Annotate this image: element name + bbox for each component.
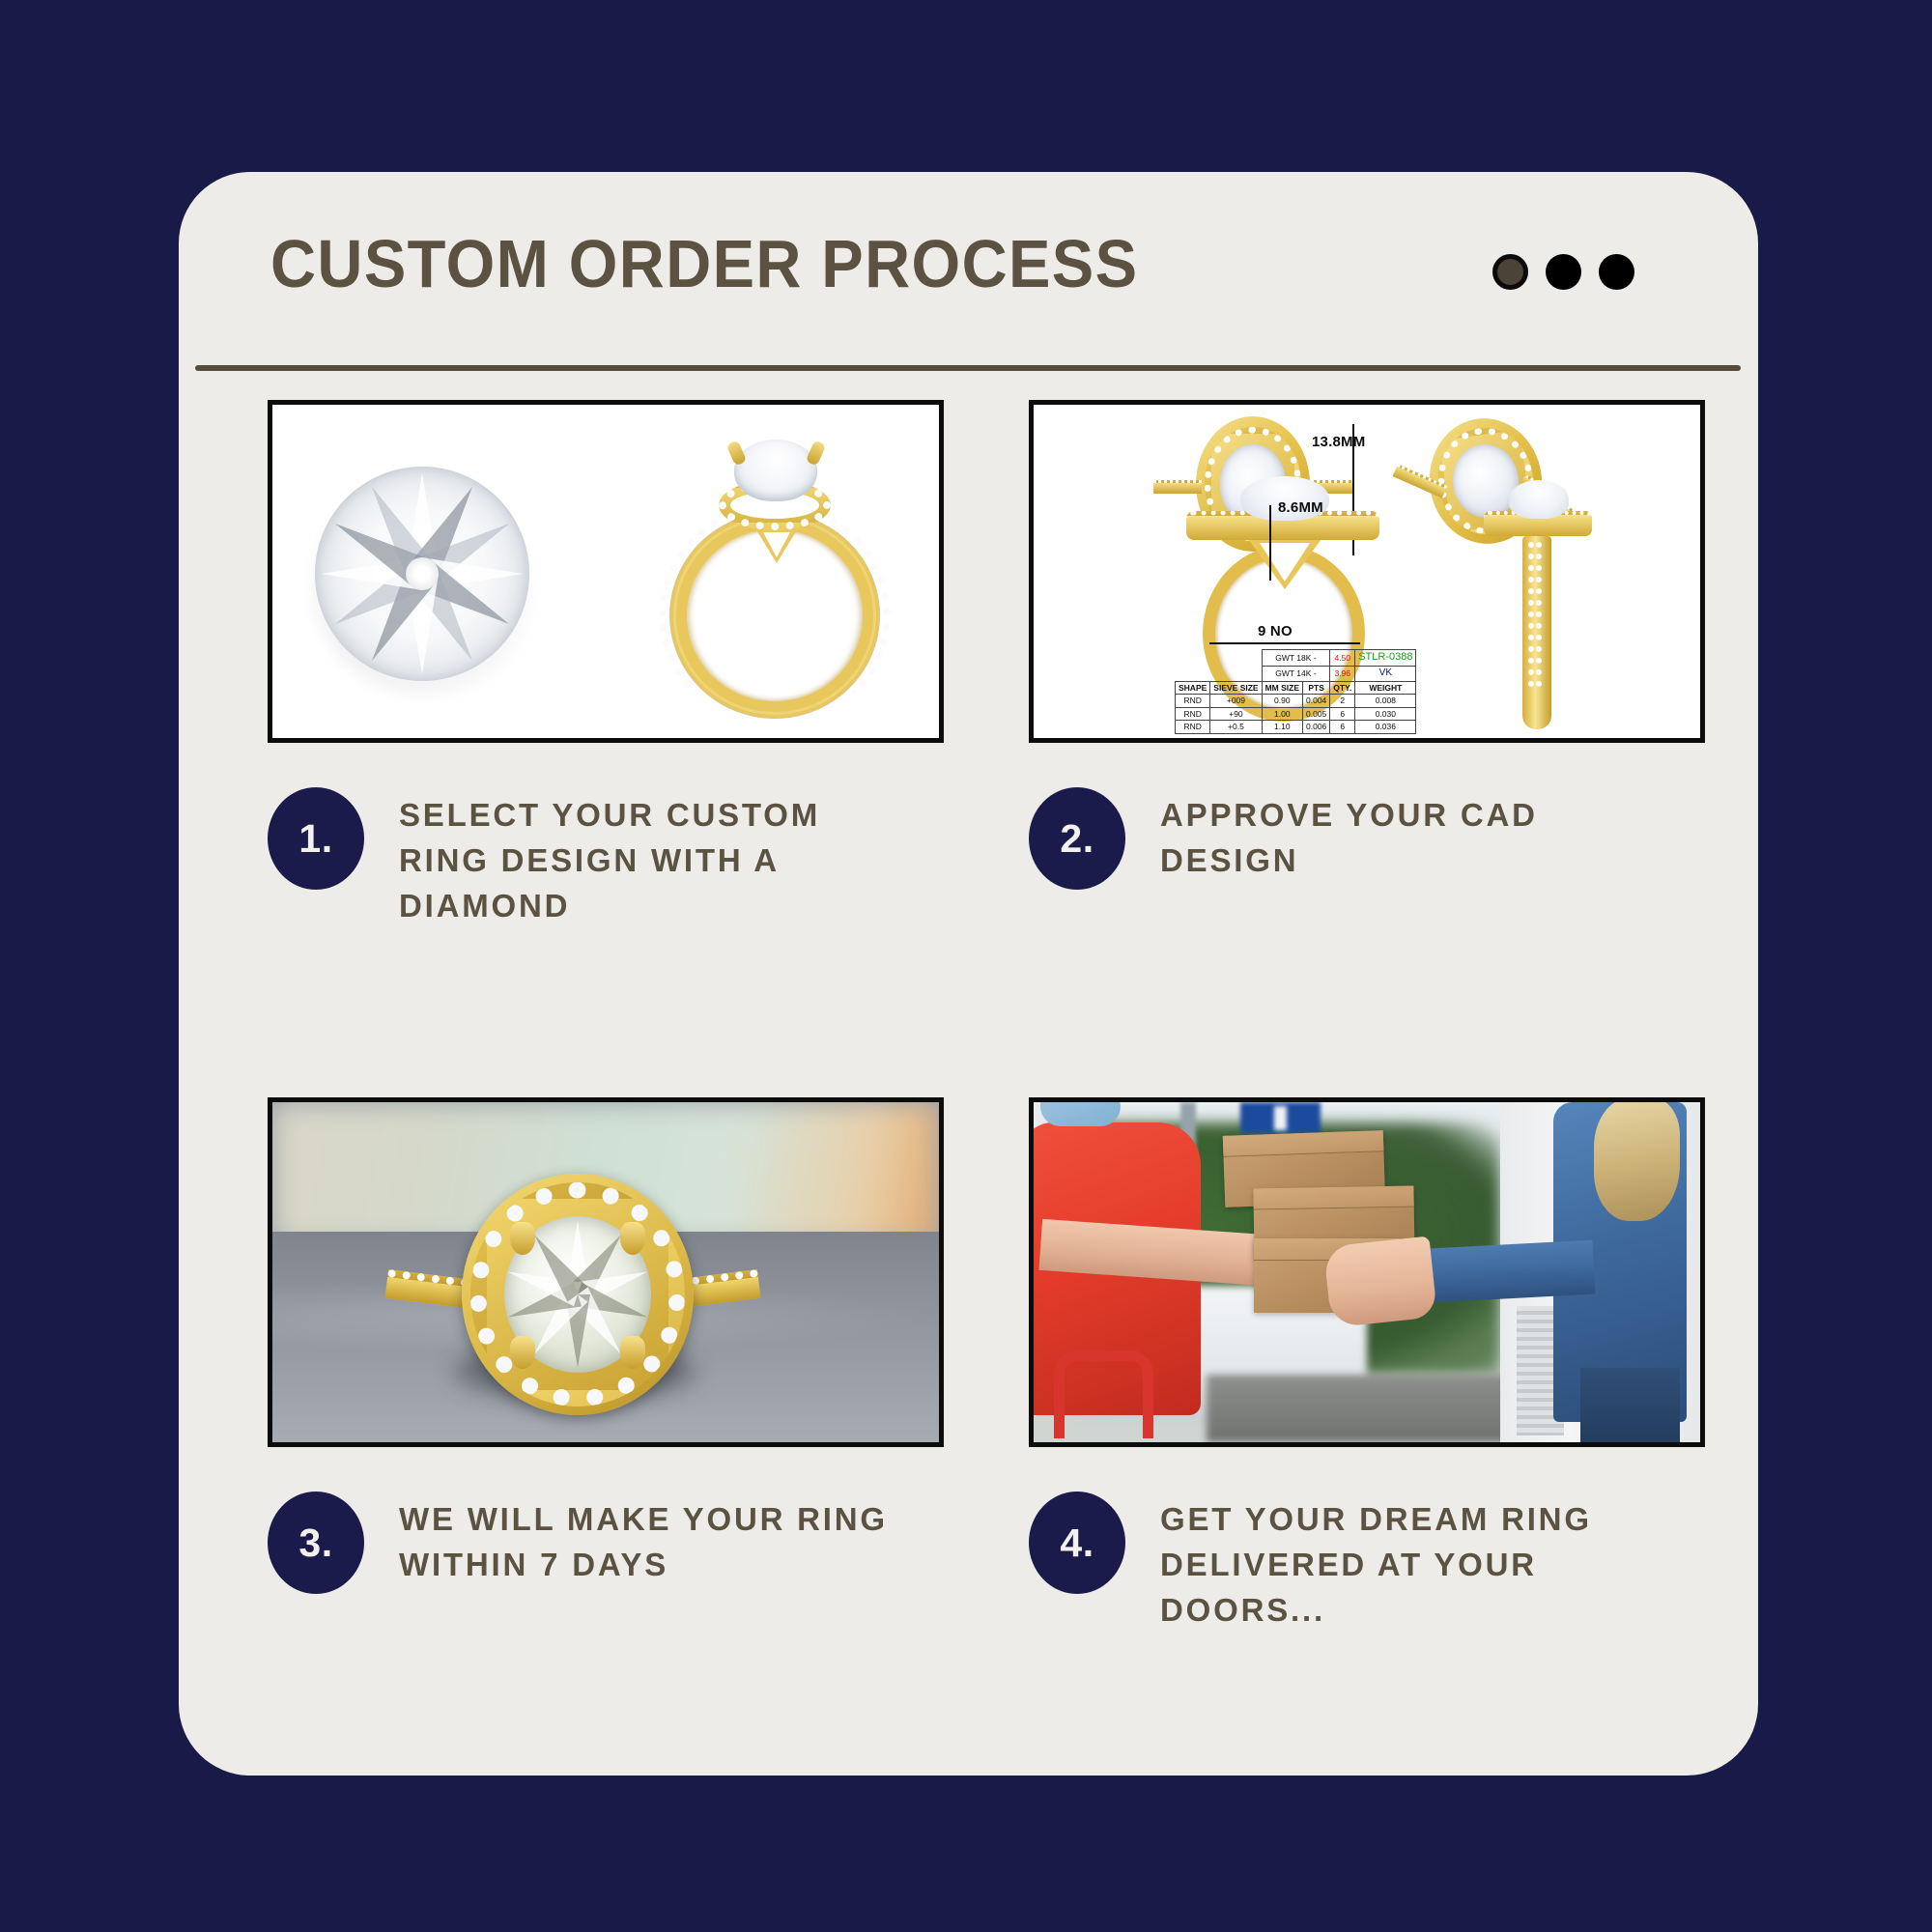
cad-side-center-stone: [1509, 480, 1569, 519]
gwt-18k-value: 4.50: [1330, 650, 1355, 667]
window-controls[interactable]: [1492, 254, 1634, 290]
face-mask-icon: [1040, 1102, 1121, 1126]
process-card: CUSTOM ORDER PROCESS: [179, 172, 1758, 1776]
card-header: CUSTOM ORDER PROCESS: [179, 172, 1758, 365]
prong-right: [806, 440, 827, 466]
gold-halo-ring-photo-icon: [462, 1174, 694, 1415]
loose-diamond-graphic: [301, 453, 543, 699]
cad-spec-table: GWT 18K - 4.50 STLR-0388 GWT 14K - 3.96 …: [1175, 649, 1416, 734]
dim-label-halo-width: 13.8MM: [1312, 434, 1365, 450]
gwt-14k-value: 3.96: [1330, 667, 1355, 682]
cad-front-v-gallery: [1248, 539, 1321, 589]
step-4-label: GET YOUR DREAM RING DELIVERED AT YOUR DO…: [1160, 1496, 1662, 1634]
table-row: GWT 14K - 3.96 VK: [1176, 667, 1416, 682]
table-row: GWT 18K - 4.50 STLR-0388: [1176, 650, 1416, 667]
step-2-label: APPROVE YOUR CAD DESIGN: [1160, 792, 1662, 883]
step-card-2: 13.8MM: [1029, 400, 1705, 890]
dim-label-ring-size: 9 NO: [1258, 623, 1293, 639]
blue-road-sign: [1240, 1102, 1321, 1133]
step-2-image: 13.8MM: [1029, 400, 1705, 743]
window-dot-black-1-icon[interactable]: [1546, 254, 1581, 290]
cad-side-pave: [1528, 542, 1542, 687]
col-mm-size: MM SIZE: [1262, 681, 1302, 695]
col-shape: SHAPE: [1176, 681, 1210, 695]
step-3-label: WE WILL MAKE YOUR RING WITHIN 7 DAYS: [399, 1496, 901, 1587]
finished-ring-photo: [272, 1102, 939, 1442]
step-1-number-badge: 1.: [268, 787, 364, 890]
table-header-row: SHAPE SIEVE SIZE MM SIZE PTS QTY. WEIGHT: [1176, 681, 1416, 695]
window-dot-black-2-icon[interactable]: [1599, 254, 1634, 290]
header-divider: [195, 365, 1741, 371]
dim-label-head-height: 8.6MM: [1278, 499, 1323, 516]
col-sieve-size: SIEVE SIZE: [1210, 681, 1262, 695]
gwt-14k-label: GWT 14K -: [1262, 667, 1330, 682]
step-card-4: 4. GET YOUR DREAM RING DELIVERED AT YOUR…: [1029, 1097, 1705, 1634]
window-dot-brown-icon[interactable]: [1492, 254, 1528, 290]
cad-sheet: 13.8MM: [1034, 405, 1700, 738]
gwt-18k-label: GWT 18K -: [1262, 650, 1330, 667]
infographic-canvas: CUSTOM ORDER PROCESS: [0, 0, 1932, 1932]
v-gallery: [755, 528, 798, 563]
prong-bottom-left: [510, 1336, 535, 1369]
table-row: RND +009 0.90 0.004 2 0.008: [1176, 695, 1416, 708]
step-2-caption: 2. APPROVE YOUR CAD DESIGN: [1029, 787, 1705, 890]
round-brilliant-diamond-icon: [315, 467, 529, 681]
step-4-number-badge: 4.: [1029, 1492, 1125, 1594]
prong-top-left: [510, 1222, 535, 1255]
step-3-image: [268, 1097, 944, 1447]
customer-jeans: [1580, 1368, 1681, 1442]
step-1-caption: 1. SELECT YOUR CUSTOM RING DESIGN WITH A…: [268, 787, 944, 929]
red-hand-trolley: [1054, 1350, 1154, 1439]
cad-shank-left: [1153, 480, 1202, 494]
customer-blonde-hair: [1594, 1102, 1681, 1221]
prong-bottom-right: [620, 1336, 645, 1369]
table-row: RND +90 1.00 0.005 6 0.030: [1176, 707, 1416, 721]
dim-line-head-height: [1269, 505, 1271, 581]
col-weight: WEIGHT: [1355, 681, 1416, 695]
center-stone: [734, 440, 817, 501]
step-2-number-badge: 2.: [1029, 787, 1125, 890]
gold-halo-ring-profile-icon: [630, 434, 920, 724]
step-4-image: [1029, 1097, 1705, 1447]
step-card-1: 1. SELECT YOUR CUSTOM RING DESIGN WITH A…: [268, 400, 944, 929]
style-code: STLR-0388: [1355, 650, 1416, 667]
dim-line-ring-size: [1209, 642, 1360, 644]
step-card-3: 3. WE WILL MAKE YOUR RING WITHIN 7 DAYS: [268, 1097, 944, 1594]
delivery-photo: [1034, 1102, 1700, 1442]
step-3-caption: 3. WE WILL MAKE YOUR RING WITHIN 7 DAYS: [268, 1492, 944, 1594]
col-pts: PTS: [1303, 681, 1330, 695]
step-1-label: SELECT YOUR CUSTOM RING DESIGN WITH A DI…: [399, 792, 901, 929]
step-4-caption: 4. GET YOUR DREAM RING DELIVERED AT YOUR…: [1029, 1492, 1705, 1634]
prong-top-right: [620, 1222, 645, 1255]
table-row: RND +0.5 1.10 0.006 6 0.036: [1176, 721, 1416, 734]
designer-initials: VK: [1355, 667, 1416, 682]
road: [1207, 1375, 1526, 1442]
page-title: CUSTOM ORDER PROCESS: [270, 225, 1138, 302]
step-1-image: [268, 400, 944, 743]
step-3-number-badge: 3.: [268, 1492, 364, 1594]
customer-hand: [1322, 1236, 1437, 1329]
col-qty: QTY.: [1330, 681, 1355, 695]
